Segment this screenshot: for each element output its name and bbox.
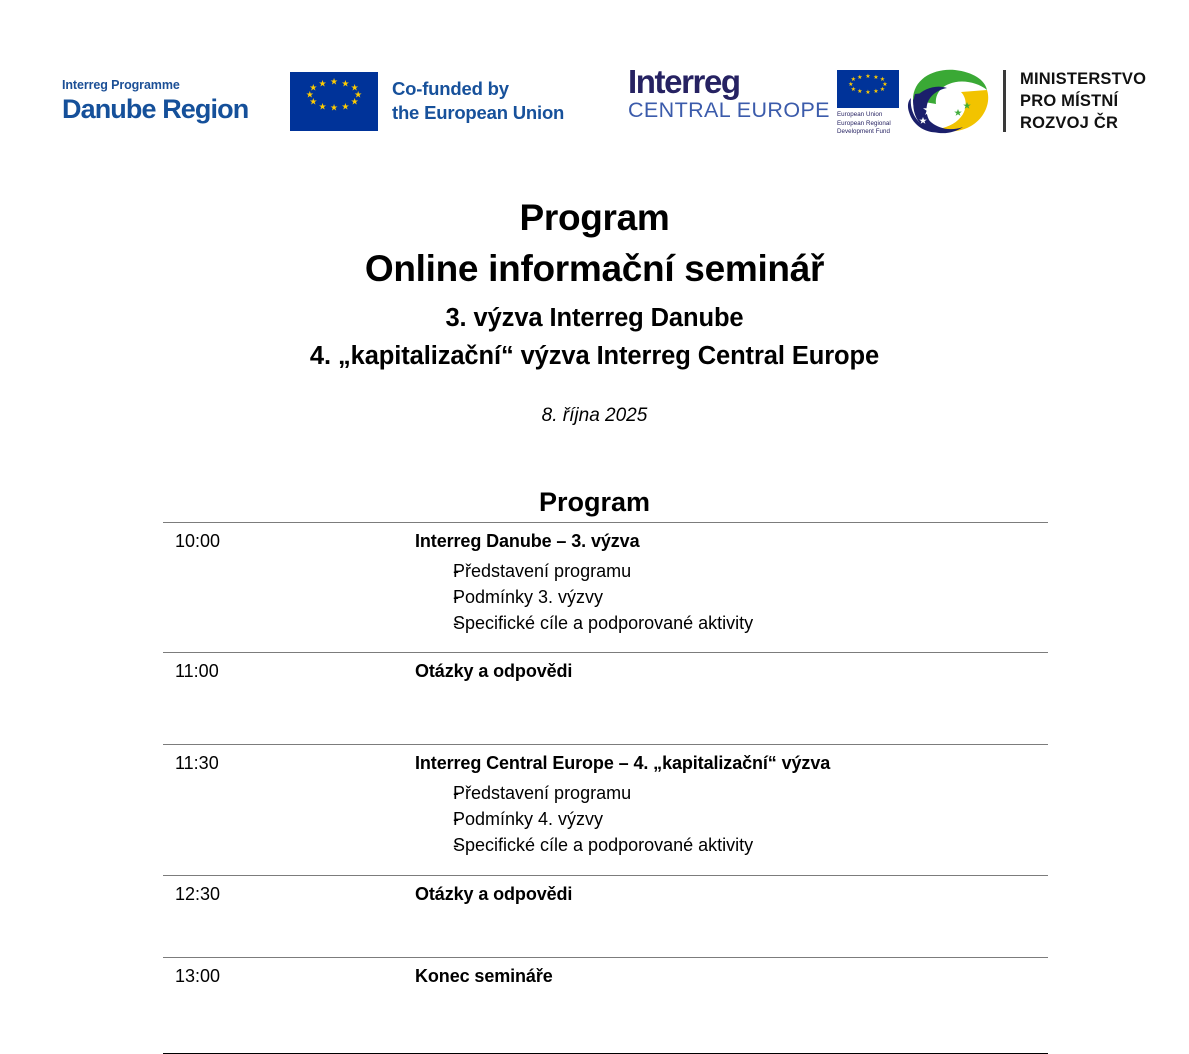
agenda-content: Interreg Central Europe – 4. „kapitaliza… xyxy=(415,750,1048,874)
document-title-block: Program Online informační seminář 3. výz… xyxy=(0,196,1189,373)
list-item: - Představení programu xyxy=(415,781,1048,807)
table-row: 12:30 Otázky a odpovědi xyxy=(163,875,1048,957)
list-item: - Podmínky 3. výzvy xyxy=(415,585,1048,611)
bullet-text: Podmínky 3. výzvy xyxy=(453,585,1048,611)
erdf-line-3: Development Fund xyxy=(837,128,899,137)
agenda-content: Interreg Danube – 3. výzva - Představení… xyxy=(415,528,1048,652)
interreg-danube-region-logo: Interreg Programme Danube Region xyxy=(62,55,248,147)
agenda-time: 13:00 xyxy=(163,963,415,1053)
ministry-line-1: MINISTERSTVO xyxy=(1020,68,1146,90)
agenda-time: 10:00 xyxy=(163,528,415,652)
erdf-line-2: European Regional xyxy=(837,120,899,129)
program-section-heading: Program xyxy=(0,487,1189,518)
agenda-time: 11:30 xyxy=(163,750,415,874)
event-date: 8. října 2025 xyxy=(0,405,1189,427)
call-line-danube: 3. výzva Interreg Danube xyxy=(0,303,1189,335)
table-row: 11:00 Otázky a odpovědi xyxy=(163,652,1048,744)
interreg-wordmark: Interreg xyxy=(628,65,830,98)
row-spacer xyxy=(415,859,1048,875)
central-europe-wordmark: CENTRAL EUROPE xyxy=(628,100,830,122)
list-item: - Představení programu xyxy=(415,559,1048,585)
agenda-time: 11:00 xyxy=(163,658,415,744)
bullet-dash-icon: - xyxy=(415,611,453,637)
program-agenda-table: 10:00 Interreg Danube – 3. výzva - Předs… xyxy=(163,522,1048,1054)
bullet-dash-icon: - xyxy=(415,833,453,859)
row-spacer xyxy=(415,636,1048,652)
agenda-title: Interreg Central Europe – 4. „kapitaliza… xyxy=(415,750,1048,776)
list-item: - Podmínky 4. výzvy xyxy=(415,807,1048,833)
agenda-content: Konec semináře xyxy=(415,963,1048,1053)
agenda-time: 12:30 xyxy=(163,881,415,957)
bullet-text: Specifické cíle a podporované aktivity xyxy=(453,611,1048,637)
bullet-text: Specifické cíle a podporované aktivity xyxy=(453,833,1048,859)
ministry-line-3: ROZVOJ ČR xyxy=(1020,112,1146,134)
agenda-title: Konec semináře xyxy=(415,963,1048,989)
danube-programme-label: Interreg Programme xyxy=(62,79,248,92)
call-line-central-europe: 4. „kapitalizační“ výzva Interreg Centra… xyxy=(0,341,1189,373)
co-funded-line-1: Co-funded by xyxy=(392,77,564,101)
ministry-of-regional-development-logo: MINISTERSTVO PRO MÍSTNÍ ROZVOJ ČR xyxy=(905,55,1146,147)
row-spacer xyxy=(415,989,1048,1053)
bullet-text: Představení programu xyxy=(453,781,1048,807)
list-item: - Specifické cíle a podporované aktivity xyxy=(415,611,1048,637)
eu-flag-icon: ★ ★ ★ ★ ★ ★ ★ ★ ★ ★ ★ ★ xyxy=(290,72,378,131)
bullet-dash-icon: - xyxy=(415,559,453,585)
agenda-bullet-list: - Představení programu - Podmínky 4. výz… xyxy=(415,781,1048,858)
bullet-text: Představení programu xyxy=(453,559,1048,585)
table-row: 13:00 Konec semináře xyxy=(163,957,1048,1053)
ministry-emblem-icon xyxy=(905,64,993,138)
danube-region-label: Danube Region xyxy=(62,96,248,123)
list-item: - Specifické cíle a podporované aktivity xyxy=(415,833,1048,859)
agenda-title: Otázky a odpovědi xyxy=(415,658,1048,684)
agenda-title: Otázky a odpovědi xyxy=(415,881,1048,907)
agenda-content: Otázky a odpovědi xyxy=(415,658,1048,744)
bullet-dash-icon: - xyxy=(415,807,453,833)
interreg-central-europe-logo: Interreg CENTRAL EUROPE ★ ★ ★ ★ ★ ★ ★ ★ … xyxy=(628,55,899,147)
bullet-dash-icon: - xyxy=(415,781,453,807)
bullet-dash-icon: - xyxy=(415,585,453,611)
row-spacer xyxy=(415,907,1048,957)
page-title: Program xyxy=(0,196,1189,240)
table-row: 11:30 Interreg Central Europe – 4. „kapi… xyxy=(163,744,1048,874)
table-row: 10:00 Interreg Danube – 3. výzva - Předs… xyxy=(163,522,1048,652)
bullet-text: Podmínky 4. výzvy xyxy=(453,807,1048,833)
co-funded-by-eu-logo: ★ ★ ★ ★ ★ ★ ★ ★ ★ ★ ★ ★ Co-funded by the… xyxy=(290,55,564,147)
logo-divider xyxy=(1003,70,1006,132)
eu-flag-icon: ★ ★ ★ ★ ★ ★ ★ ★ ★ ★ ★ ★ xyxy=(837,70,899,108)
ministry-line-2: PRO MÍSTNÍ xyxy=(1020,90,1146,112)
agenda-title: Interreg Danube – 3. výzva xyxy=(415,528,1048,554)
agenda-bullet-list: - Představení programu - Podmínky 3. výz… xyxy=(415,559,1048,636)
erdf-line-1: European Union xyxy=(837,111,899,120)
page-subtitle: Online informační seminář xyxy=(0,247,1189,291)
co-funded-line-2: the European Union xyxy=(392,101,564,125)
row-spacer xyxy=(415,684,1048,744)
logo-bar: Interreg Programme Danube Region ★ ★ ★ ★… xyxy=(0,55,1189,147)
agenda-content: Otázky a odpovědi xyxy=(415,881,1048,957)
